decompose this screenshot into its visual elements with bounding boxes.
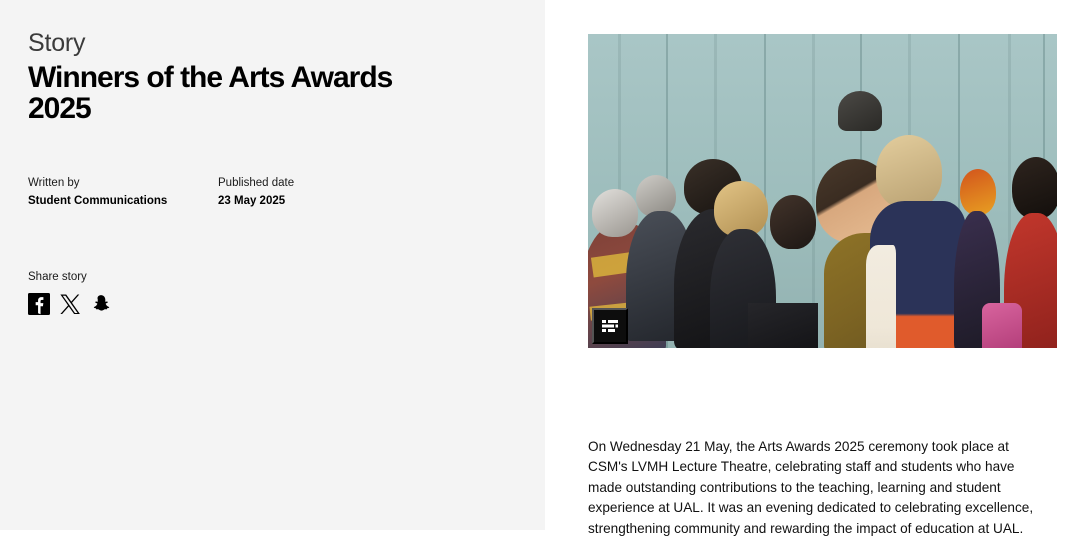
byline-date-value: 23 May 2025 [218, 194, 294, 208]
hero-photo [588, 34, 1057, 348]
share-icon-list [28, 293, 112, 315]
byline-date-label: Published date [218, 176, 294, 190]
article-kicker: Story [28, 28, 498, 58]
share-story: Share story [28, 270, 112, 315]
photo-jumper-sleeve [866, 245, 896, 348]
byline-author-label: Written by [28, 176, 218, 190]
photo-person-head [770, 195, 816, 249]
byline-date: Published date 23 May 2025 [218, 176, 294, 208]
article-header: Story Winners of the Arts Awards 2025 [28, 28, 498, 124]
photo-crowd [588, 153, 1057, 348]
article-meta-panel: Story Winners of the Arts Awards 2025 Wr… [0, 0, 545, 530]
article-body-paragraph: On Wednesday 21 May, the Arts Awards 202… [588, 437, 1050, 537]
byline-author-value: Student Communications [28, 194, 218, 208]
photo-foreground-shape [748, 303, 818, 348]
article-page: Story Winners of the Arts Awards 2025 Wr… [0, 0, 1080, 537]
photo-person-head [960, 169, 996, 215]
hero-image [588, 34, 1057, 348]
photo-pink-bag [982, 303, 1022, 348]
byline-author: Written by Student Communications [28, 176, 218, 208]
facebook-icon[interactable] [28, 293, 50, 315]
snapchat-icon[interactable] [90, 293, 112, 315]
photo-person-head [838, 91, 882, 131]
photo-person-head [876, 135, 942, 209]
page-title: Winners of the Arts Awards 2025 [28, 62, 448, 124]
byline: Written by Student Communications Publis… [28, 176, 294, 208]
photo-person-head [592, 189, 638, 237]
photo-person-head [1012, 157, 1057, 219]
share-story-label: Share story [28, 270, 112, 284]
x-icon[interactable] [59, 293, 81, 315]
image-credit-icon[interactable] [592, 308, 628, 344]
